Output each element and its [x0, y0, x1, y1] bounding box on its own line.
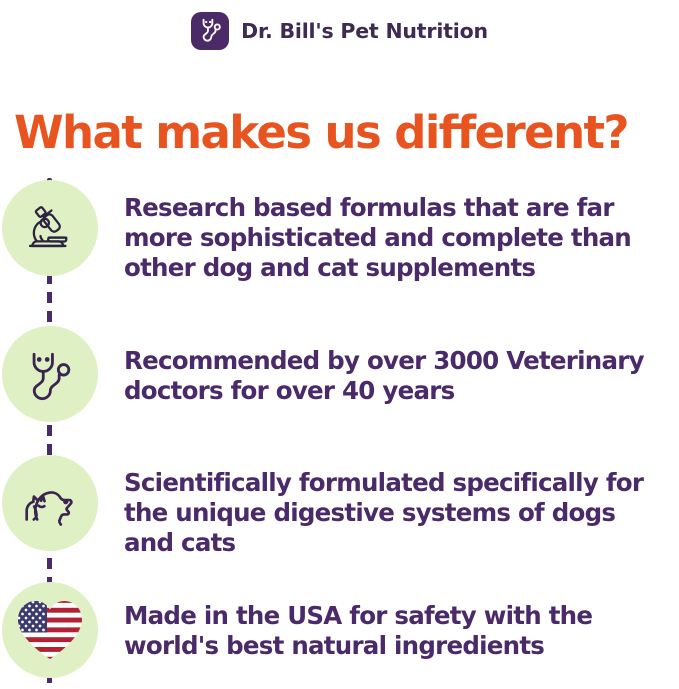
- list-item-label: Research based formulas that are far mor…: [124, 193, 669, 283]
- microscope-icon: [21, 199, 79, 257]
- brand-name: Dr. Bill's Pet Nutrition: [241, 21, 488, 42]
- usa-flag-heart-icon: [15, 598, 85, 662]
- feature-icon-bubble: [2, 180, 98, 276]
- feature-list: Research based formulas that are far mor…: [0, 178, 679, 689]
- list-item: Made in the USA for safety with the worl…: [0, 582, 679, 678]
- feature-icon-bubble: [2, 582, 98, 678]
- list-item-label: Recommended by over 3000 Veterinary doct…: [124, 346, 669, 406]
- list-item-label: Scientifically formulated specifically f…: [124, 468, 669, 558]
- list-item-label: Made in the USA for safety with the worl…: [124, 601, 669, 661]
- feature-icon-bubble: [2, 326, 98, 422]
- feature-icon-bubble: [2, 455, 98, 551]
- list-item: Research based formulas that are far mor…: [0, 180, 679, 283]
- stethoscope-pet-face-icon: [20, 344, 80, 404]
- brand-header: Dr. Bill's Pet Nutrition: [0, 8, 679, 54]
- dog-and-cat-icon: [18, 474, 82, 532]
- list-item: Recommended by over 3000 Veterinary doct…: [0, 326, 679, 422]
- stethoscope-pet-face-icon: [196, 15, 224, 47]
- page-title: What makes us different?: [14, 109, 674, 156]
- brand-logo: [191, 12, 229, 50]
- list-item: Scientifically formulated specifically f…: [0, 455, 679, 558]
